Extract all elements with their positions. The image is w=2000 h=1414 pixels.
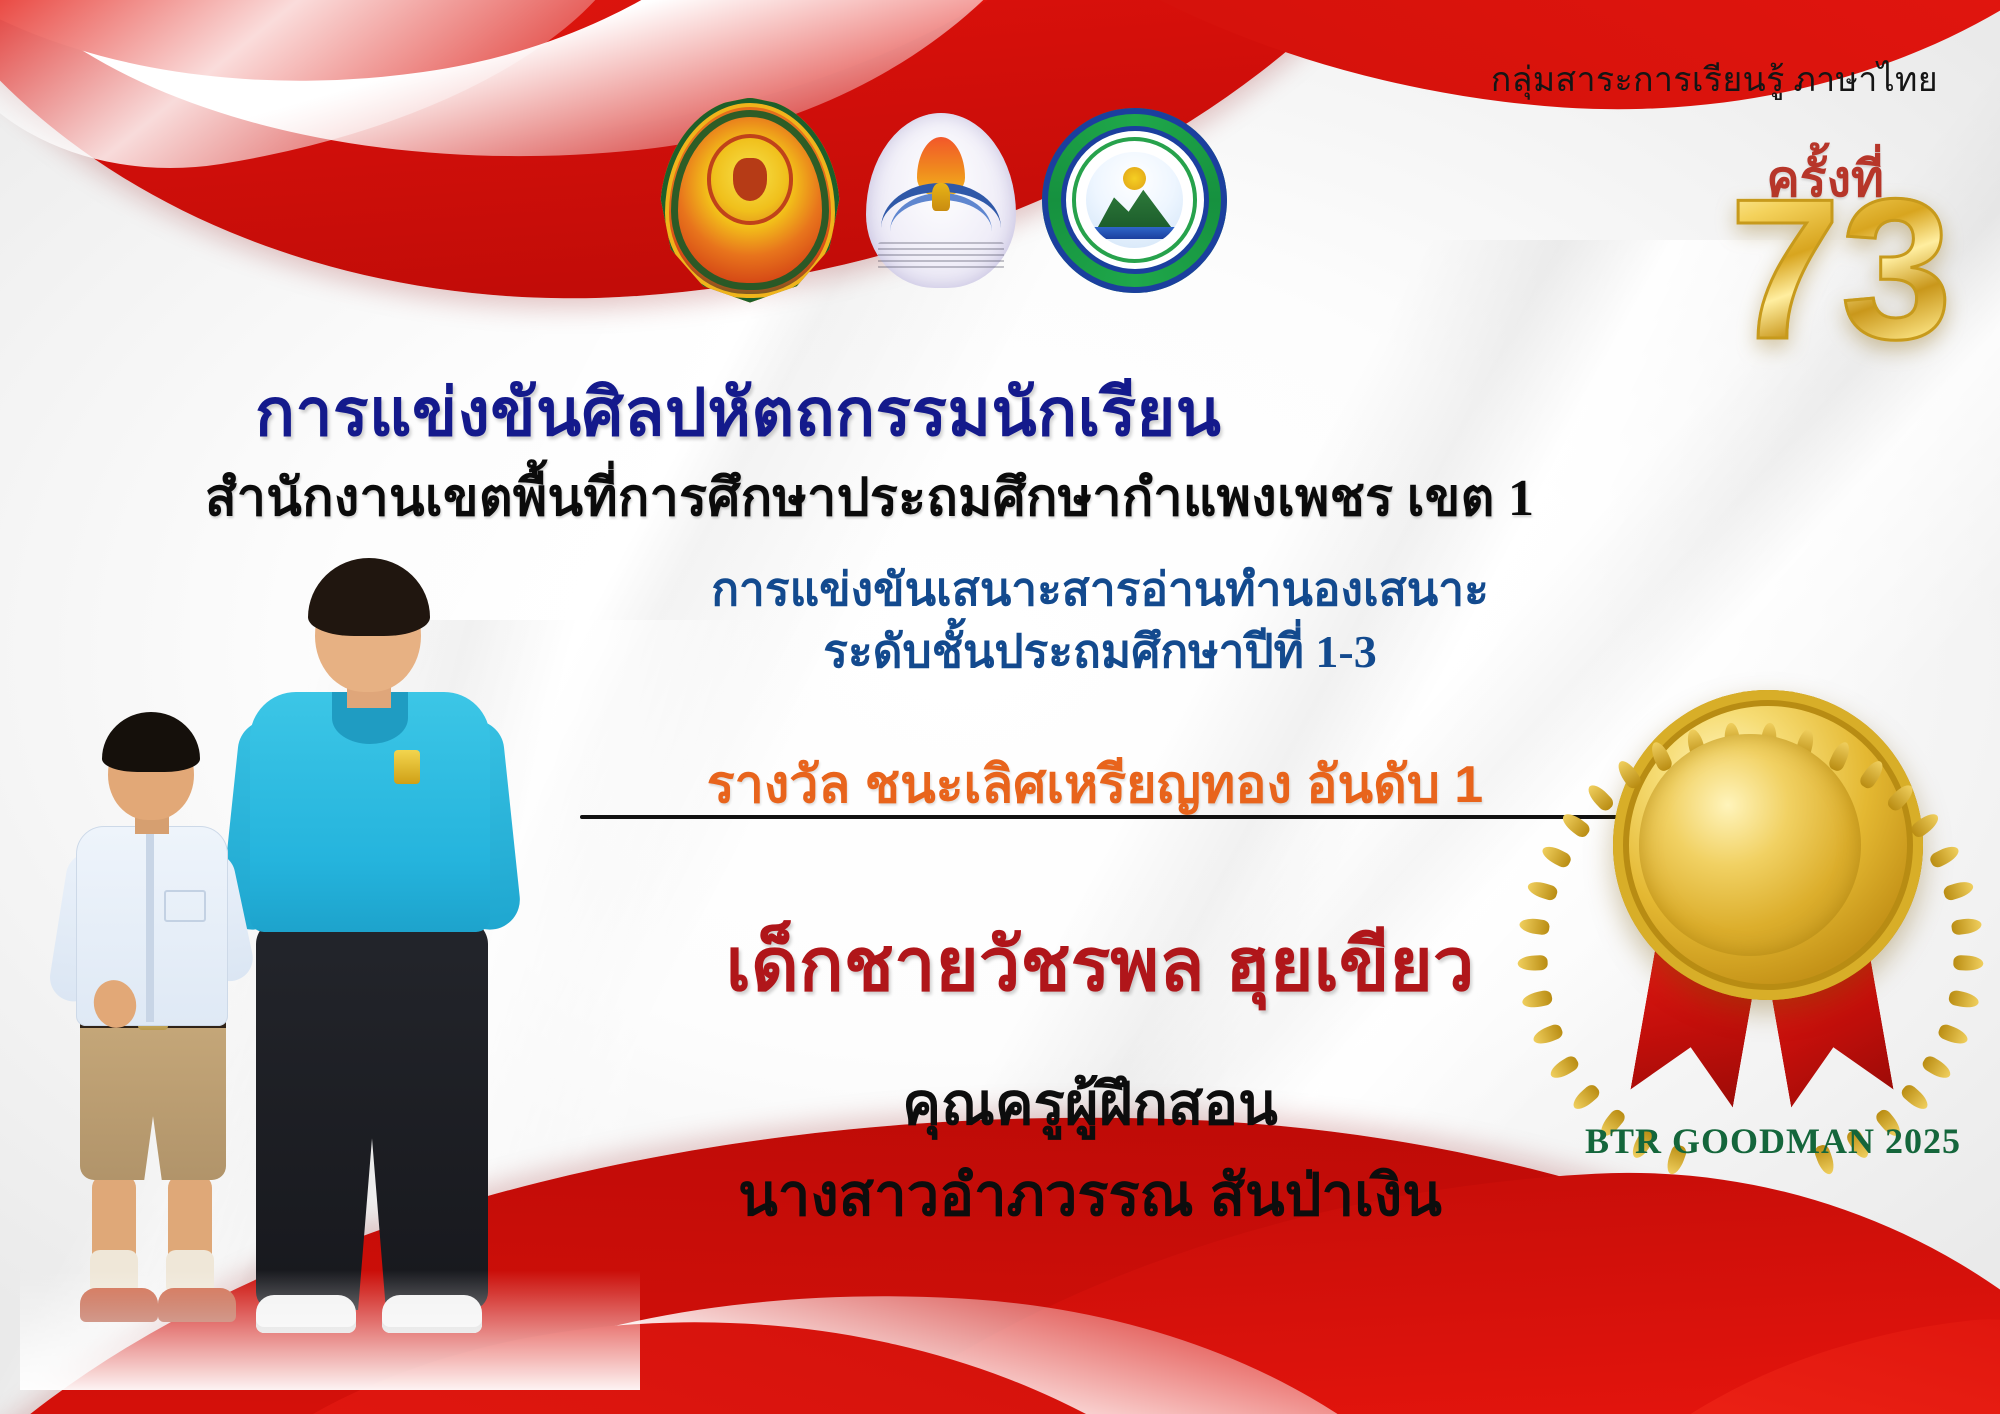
logo-row xyxy=(660,100,1280,300)
anniversary-emblem-icon xyxy=(866,113,1016,288)
winner-and-teacher-photo xyxy=(60,560,580,1360)
gold-medal-graphic: BTR GOODMAN 2025 xyxy=(1595,690,1945,1130)
bottom-red-ribbon-wave xyxy=(1485,1298,2000,1414)
horizontal-divider xyxy=(580,815,1640,819)
teacher-trousers xyxy=(256,920,488,1310)
education-office-title: สำนักงานเขตพื้นที่การศึกษาประถมศึกษากำแพ… xyxy=(205,455,1534,538)
top-white-ribbon-wave xyxy=(0,0,674,205)
obec-ministry-seal-icon xyxy=(660,98,840,303)
kamphaengphet-area-seal-icon xyxy=(1042,108,1227,293)
subject-group-label: กลุ่มสาระการเรียนรู้ ภาษาไทย xyxy=(1491,52,1938,106)
student-shirt-pocket xyxy=(164,890,206,922)
teacher-hair xyxy=(308,558,430,636)
student-shorts xyxy=(80,1012,226,1180)
award-poster: กลุ่มสาระการเรียนรู้ ภาษาไทย ครั้งที่ 73 xyxy=(0,0,2000,1414)
medal-brand-label: BTR GOODMAN 2025 xyxy=(1573,1120,1973,1162)
medal-inner-face xyxy=(1639,734,1861,956)
teacher-badge-icon xyxy=(394,750,420,784)
student-hair xyxy=(102,712,200,772)
photo-bottom-fade xyxy=(20,1270,640,1390)
competition-title: การแข่งขันศิลปหัตถกรรมนักเรียน xyxy=(255,360,1221,465)
edition-number-balloon: 73 xyxy=(1730,175,1952,365)
student-shirt-placket xyxy=(146,832,154,1022)
